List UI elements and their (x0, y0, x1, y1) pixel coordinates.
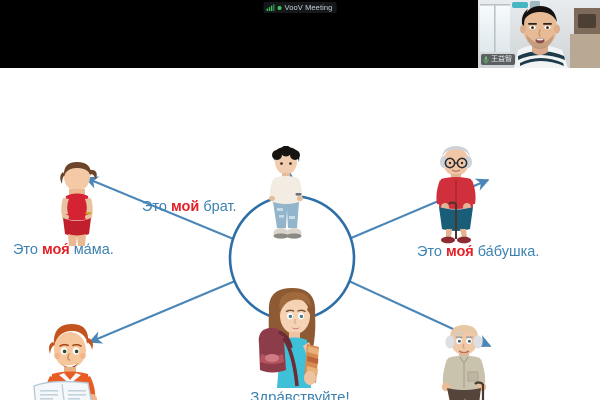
caption-mother: Это моя́ ма́ма. (13, 241, 114, 259)
arrow-to-father (90, 276, 247, 342)
participant-name: 王益智 (491, 55, 512, 64)
meeting-app-label: VooV Meeting (264, 2, 337, 13)
caption-brother-suffix: брат. (199, 199, 236, 215)
shared-slide-content: Это моя́ ма́ма. Это мой брат. Это моя́ б… (0, 68, 600, 400)
video-conference-bar: VooV Meeting (0, 0, 600, 68)
caption-grandmother-suffix: ба́бушка. (474, 244, 540, 260)
girl-with-backpack-avatar (251, 282, 333, 394)
screen-root: VooV Meeting (0, 0, 600, 400)
caption-brother-keyword: мой (171, 199, 199, 215)
signal-bars-icon (267, 4, 275, 11)
caption-grandmother-keyword: моя́ (446, 244, 474, 260)
caption-grandmother-prefix: Это (417, 244, 446, 260)
participant-nameplate: 王益智 (481, 54, 515, 65)
greeting-text: Здра́вствуйте! (250, 389, 349, 400)
self-view-video-tile[interactable]: 王益智 (478, 0, 600, 68)
mother-figure (44, 160, 110, 250)
caption-brother-prefix: Это (142, 199, 171, 215)
brother-figure (255, 146, 317, 241)
caption-brother: Это мой брат. (142, 198, 237, 216)
microphone-icon (483, 56, 489, 64)
online-status-dot (278, 6, 282, 10)
grandmother-figure (424, 144, 488, 244)
caption-mother-keyword: моя́ (42, 242, 70, 258)
grandfather-figure (430, 322, 498, 400)
caption-mother-suffix: ма́ма. (70, 242, 114, 258)
caption-center-greeting: Здра́вствуйте! Я Анна. (205, 388, 395, 400)
caption-grandmother: Это моя́ ба́бушка. (417, 243, 539, 261)
father-figure (26, 320, 104, 400)
caption-mother-prefix: Это (13, 242, 42, 258)
meeting-app-name: VooV Meeting (285, 3, 333, 12)
